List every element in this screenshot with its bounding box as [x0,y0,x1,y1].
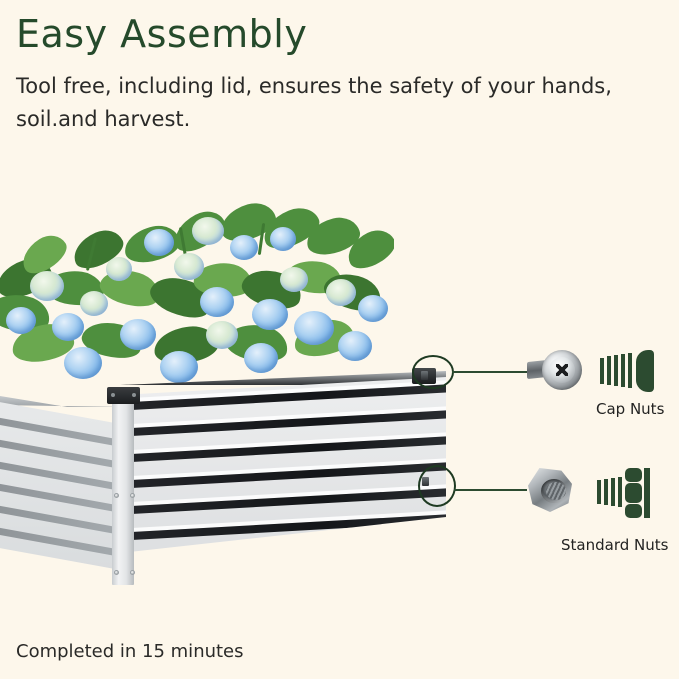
box-face-left [0,401,126,571]
hex-nut-photo [522,466,578,516]
marker-cap-nuts [412,355,454,389]
hydrangea-plants [0,175,394,390]
post-screw [130,570,135,575]
leader-line-standard-nuts [454,489,527,491]
raised-garden-bed [0,365,446,595]
standard-nut-diagram-icon [597,468,657,518]
corner-cap-bracket [107,387,140,404]
page-title: Easy Assembly [16,14,307,56]
cap-nut-diagram-icon [600,350,656,394]
cap-nut-photo [527,348,583,392]
page-subtitle: Tool free, including lid, ensures the sa… [16,70,616,135]
marker-standard-nuts [418,465,456,507]
product-photo [0,175,446,595]
product-feature-image: Easy Assembly Tool free, including lid, … [0,0,679,679]
callout-label-standard-nuts: Standard Nuts [561,536,668,554]
post-screw [114,570,119,575]
callout-label-cap-nuts: Cap Nuts [596,400,664,418]
box-face-right [120,377,446,569]
completion-time-caption: Completed in 15 minutes [16,641,244,663]
leader-line-cap-nuts [452,371,537,373]
post-screw [130,493,135,498]
post-screw [114,493,119,498]
